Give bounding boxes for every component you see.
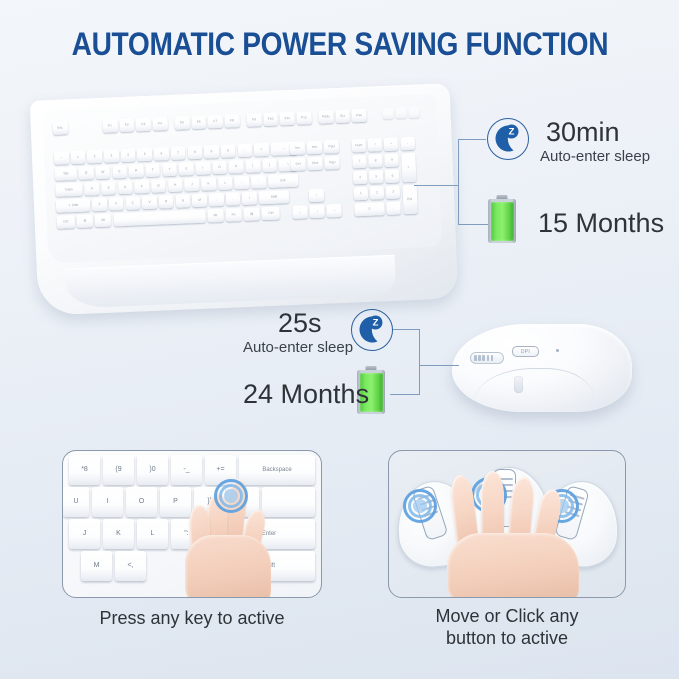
key-end: End bbox=[307, 157, 323, 171]
key-8: 8 bbox=[187, 146, 202, 160]
key-h: H bbox=[168, 179, 183, 193]
key-menu: ▤ bbox=[243, 207, 260, 221]
mini-key-l: L bbox=[137, 519, 168, 549]
key-f8: F8 bbox=[224, 114, 239, 128]
key-numpad-2: 2 bbox=[370, 186, 385, 200]
key-6: 6 bbox=[154, 147, 169, 161]
press-key-demo-panel: *8 (9 )0 -_ += Backspace U I O P }] |\ J… bbox=[62, 450, 322, 598]
key-5: 5 bbox=[137, 148, 152, 162]
mini-key-k: K bbox=[103, 519, 134, 549]
keyboard-cluster-top: Ins Hm PgU bbox=[290, 140, 340, 155]
mini-key-minus: -_ bbox=[171, 455, 202, 485]
mini-key-j-label: J bbox=[83, 530, 87, 538]
mini-key-row2-extra bbox=[262, 487, 315, 517]
battery-fill bbox=[491, 202, 514, 241]
key-numpad-9: 9 bbox=[385, 153, 400, 167]
tap-ripple-icon-left bbox=[403, 489, 437, 523]
key-enter: Ent bbox=[268, 174, 299, 188]
key-b: B bbox=[159, 195, 174, 209]
keyboard-row-nav: PrtSc Scr Pau bbox=[318, 109, 366, 124]
key-o: O bbox=[212, 161, 227, 175]
key-numpad-4: 4 bbox=[353, 171, 368, 185]
connector-mouse-spine bbox=[419, 329, 420, 395]
key-fn: Fn bbox=[225, 208, 242, 222]
key-f9: F9 bbox=[246, 113, 261, 127]
key-2: 2 bbox=[87, 150, 102, 164]
key-insert: Ins bbox=[290, 141, 306, 155]
key-equals: = bbox=[254, 143, 269, 157]
key-numlock: Num bbox=[352, 139, 367, 153]
key-numpad-divide: / bbox=[368, 138, 383, 152]
key-shift-right: Shift bbox=[259, 190, 290, 204]
mouse-indicator-bar bbox=[487, 355, 490, 361]
keyboard-row-function-3: F9 F10 F11 F12 bbox=[246, 111, 311, 127]
key-m: M bbox=[192, 194, 207, 208]
key-numpad-0: 0 bbox=[354, 202, 385, 216]
key-f10: F10 bbox=[263, 113, 278, 127]
mouse-battery-life: 24 Months bbox=[243, 379, 369, 410]
key-delete: Del bbox=[290, 157, 306, 171]
key-numpad-6: 6 bbox=[385, 169, 400, 183]
key-ctrl-right: Ctrl bbox=[262, 207, 281, 221]
mouse-indicator-bar bbox=[474, 355, 477, 361]
click-mouse-caption-line2: button to active bbox=[357, 628, 657, 650]
key-bracket-left: [ bbox=[245, 159, 260, 173]
key-capslock: Caps bbox=[55, 183, 83, 197]
mini-key-shift-label: Shift bbox=[263, 563, 275, 570]
key-j: J bbox=[184, 178, 199, 192]
key-7: 7 bbox=[171, 146, 186, 160]
key-f5: F5 bbox=[174, 116, 189, 130]
mini-key-j: J bbox=[69, 519, 100, 549]
battery-full-icon-keyboard bbox=[488, 195, 516, 243]
key-e: E bbox=[112, 165, 127, 179]
key-1: 1 bbox=[71, 151, 86, 165]
keyboard-row-function-2: F5 F6 F7 F8 bbox=[174, 114, 239, 130]
key-quote: ' bbox=[251, 175, 266, 189]
moon-sleep-icon-keyboard: Z bbox=[487, 118, 529, 160]
key-t: T bbox=[145, 163, 160, 177]
key-arrow-right: → bbox=[327, 204, 343, 218]
click-mouse-demo-panel bbox=[388, 450, 626, 598]
mini-key-l-label: L bbox=[151, 530, 155, 538]
key-comma: , bbox=[209, 193, 224, 207]
mini-key-9-top: (9 bbox=[115, 466, 121, 474]
key-k: K bbox=[201, 177, 216, 191]
key-x: X bbox=[109, 197, 124, 211]
key-n: N bbox=[175, 194, 190, 208]
key-numpad-period: . bbox=[386, 201, 401, 215]
key-a: A bbox=[84, 182, 99, 196]
keyboard-cluster-bottom: Del End PgD bbox=[290, 156, 340, 171]
key-numpad-8: 8 bbox=[368, 154, 383, 168]
mini-key-minus-top: -_ bbox=[183, 466, 189, 474]
led-caps bbox=[395, 107, 406, 118]
key-ctrl-left: Ctrl bbox=[57, 215, 76, 229]
keyboard-row-function: F1 F2 F3 F4 bbox=[103, 117, 168, 133]
mouse-led-dot bbox=[556, 349, 559, 352]
key-9: 9 bbox=[204, 145, 219, 159]
key-arrow-up: ↑ bbox=[309, 189, 325, 203]
mini-key-shift: Shift bbox=[223, 551, 315, 581]
keyboard-indicator-leds bbox=[382, 107, 420, 120]
key-numpad-enter: Ent bbox=[402, 185, 417, 215]
key-y: Y bbox=[162, 163, 177, 177]
key-l: L bbox=[218, 176, 233, 190]
palm bbox=[447, 533, 579, 598]
ripple-inner bbox=[224, 489, 238, 503]
mini-key-o-label: O bbox=[139, 498, 144, 506]
key-minus: - bbox=[237, 144, 252, 158]
mouse-indicator-bar bbox=[491, 355, 494, 361]
key-shift-left: ⇧ Shift bbox=[56, 198, 91, 212]
connector-keyboard-stem bbox=[414, 185, 458, 186]
key-q: Q bbox=[79, 166, 94, 180]
connector-mouse-branch-sleep bbox=[392, 329, 420, 330]
mini-key-m: M bbox=[81, 551, 112, 581]
hero-keyboard: Esc F1 F2 F3 F4 F5 F6 F7 F8 F9 F10 F11 F… bbox=[30, 83, 459, 315]
key-numpad-multiply: * bbox=[384, 138, 399, 152]
key-d: D bbox=[118, 181, 133, 195]
mouse-sleep-time: 25s bbox=[278, 308, 322, 339]
moon-sleep-icon-mouse: Z bbox=[351, 309, 393, 351]
hand-on-mouse bbox=[441, 471, 591, 598]
key-semicolon: ; bbox=[234, 176, 249, 190]
key-g: G bbox=[151, 179, 166, 193]
keyboard-body: Esc F1 F2 F3 F4 F5 F6 F7 F8 F9 F10 F11 F… bbox=[30, 83, 459, 315]
key-f3: F3 bbox=[136, 118, 151, 132]
key-numpad-minus: - bbox=[400, 137, 415, 151]
keyboard-palm-rest bbox=[65, 255, 396, 309]
connector-keyboard-spine bbox=[458, 139, 459, 225]
key-win: ⊞ bbox=[77, 214, 94, 228]
mini-key-0: )0 bbox=[137, 455, 168, 485]
press-key-caption: Press any key to active bbox=[42, 608, 342, 630]
page-title: AUTOMATIC POWER SAVING FUNCTION bbox=[71, 26, 608, 63]
key-prtsc: PrtSc bbox=[318, 110, 333, 124]
connector-keyboard-branch-sleep bbox=[458, 139, 486, 140]
key-arrow-left: ← bbox=[292, 205, 308, 219]
key-v: V bbox=[142, 196, 157, 210]
numpad-row-3: 4 5 6 bbox=[353, 169, 400, 184]
mini-key-comma-label: <, bbox=[127, 562, 133, 570]
key-3: 3 bbox=[104, 149, 119, 163]
mini-key-quote-label: ": bbox=[184, 530, 188, 538]
key-f7: F7 bbox=[208, 115, 223, 129]
key-numpad-plus: + bbox=[401, 153, 416, 183]
mouse-dpi-button: DPI bbox=[512, 346, 539, 357]
key-numpad-3: 3 bbox=[386, 185, 401, 199]
tap-ripple-icon bbox=[214, 479, 248, 513]
hero-mouse: DPI bbox=[452, 318, 632, 418]
mini-key-enter-label: Enter bbox=[262, 531, 276, 538]
mini-key-8-top: *8 bbox=[81, 466, 88, 474]
key-period: . bbox=[225, 192, 240, 206]
key-4: 4 bbox=[121, 149, 136, 163]
key-arrow-down: ↓ bbox=[309, 205, 325, 219]
key-f12: F12 bbox=[296, 111, 311, 125]
mini-key-backspace-label: Backspace bbox=[262, 467, 291, 474]
key-tab: Tab bbox=[55, 167, 78, 181]
key-w: W bbox=[95, 166, 110, 180]
mini-key-8: *8 bbox=[69, 455, 100, 485]
key-bracket-right: ] bbox=[262, 159, 277, 173]
mini-key-k-label: K bbox=[116, 530, 121, 538]
keyboard-arrow-up: ↑ bbox=[309, 189, 325, 203]
key-0: 0 bbox=[221, 144, 236, 158]
key-numpad-5: 5 bbox=[369, 170, 384, 184]
key-alt-right: Alt bbox=[207, 209, 224, 223]
mini-key-backspace: Backspace bbox=[239, 455, 315, 485]
key-f2: F2 bbox=[119, 119, 134, 133]
key-f: F bbox=[134, 180, 149, 194]
mouse-indicator-strip bbox=[470, 352, 504, 364]
led-scroll bbox=[409, 107, 420, 118]
mini-key-9: (9 bbox=[103, 455, 134, 485]
key-numpad-7: 7 bbox=[352, 155, 367, 169]
mini-key-u: U bbox=[63, 487, 89, 517]
mini-key-bracket-label: }] bbox=[207, 498, 211, 506]
mini-key-u-label: U bbox=[73, 498, 78, 506]
key-r: R bbox=[129, 164, 144, 178]
key-c: C bbox=[125, 196, 140, 210]
key-tilde: ~ bbox=[54, 151, 69, 165]
keyboard-battery-life: 15 Months bbox=[538, 208, 664, 239]
mini-key-p: P bbox=[160, 487, 191, 517]
key-slash: / bbox=[242, 191, 257, 205]
key-p: P bbox=[229, 160, 244, 174]
key-u: U bbox=[179, 162, 194, 176]
mini-key-i-label: I bbox=[107, 498, 109, 506]
mini-key-comma: <, bbox=[115, 551, 146, 581]
key-i: I bbox=[195, 161, 210, 175]
ripple-inner bbox=[413, 499, 427, 513]
page-title-wrap: AUTOMATIC POWER SAVING FUNCTION bbox=[0, 26, 679, 63]
keyboard-row-esc: Esc bbox=[53, 121, 68, 135]
key-home: Hm bbox=[307, 141, 323, 155]
mini-key-o: O bbox=[126, 487, 157, 517]
svg-text:Z: Z bbox=[373, 318, 379, 329]
keyboard-sleep-label: Auto-enter sleep bbox=[540, 148, 650, 165]
mini-keyboard: *8 (9 )0 -_ += Backspace U I O P }] |\ J… bbox=[63, 451, 321, 597]
mouse-body: DPI bbox=[452, 324, 632, 412]
mini-key-quote: ": bbox=[171, 519, 202, 549]
key-pagedown: PgD bbox=[325, 156, 341, 170]
click-mouse-caption-line1: Move or Click any bbox=[357, 606, 657, 628]
keyboard-arrow-row: ← ↓ → bbox=[292, 204, 342, 219]
battery-shell bbox=[488, 199, 516, 243]
key-scroll: Scr bbox=[335, 110, 350, 124]
mini-key-i: I bbox=[92, 487, 123, 517]
mini-key-p-label: P bbox=[173, 498, 178, 506]
numpad-row-5: 0 . bbox=[354, 201, 401, 216]
mouse-indicator-bar bbox=[478, 355, 481, 361]
svg-text:Z: Z bbox=[509, 127, 515, 138]
mini-key-enter: Enter bbox=[223, 519, 315, 549]
connector-mouse-stem bbox=[419, 365, 459, 366]
mini-key-0-top: )0 bbox=[149, 466, 155, 474]
key-pause: Pau bbox=[352, 109, 367, 123]
key-esc: Esc bbox=[53, 121, 68, 135]
key-f11: F11 bbox=[280, 112, 295, 126]
mouse-scroll-wheel bbox=[514, 376, 523, 393]
mouse-sleep-label: Auto-enter sleep bbox=[243, 339, 353, 356]
key-f4: F4 bbox=[153, 117, 168, 131]
key-f6: F6 bbox=[191, 116, 206, 130]
key-pageup: PgU bbox=[324, 140, 340, 154]
led-num bbox=[382, 108, 393, 119]
numpad-row-1: Num / * - bbox=[352, 137, 415, 153]
key-z: Z bbox=[92, 198, 107, 212]
mouse-indicator-bar bbox=[482, 355, 485, 361]
click-mouse-caption: Move or Click any button to active bbox=[357, 606, 657, 650]
mini-key-m-label: M bbox=[94, 562, 100, 570]
connector-mouse-branch-battery bbox=[390, 394, 420, 395]
key-numpad-1: 1 bbox=[354, 187, 369, 201]
keyboard-sleep-time: 30min bbox=[546, 117, 620, 148]
connector-keyboard-branch-battery bbox=[458, 224, 488, 225]
mouse-button-seam bbox=[474, 368, 594, 402]
key-f1: F1 bbox=[103, 119, 118, 133]
key-alt-left: Alt bbox=[95, 214, 112, 228]
mini-key-equals-top: += bbox=[216, 466, 224, 474]
key-s: S bbox=[101, 181, 116, 195]
